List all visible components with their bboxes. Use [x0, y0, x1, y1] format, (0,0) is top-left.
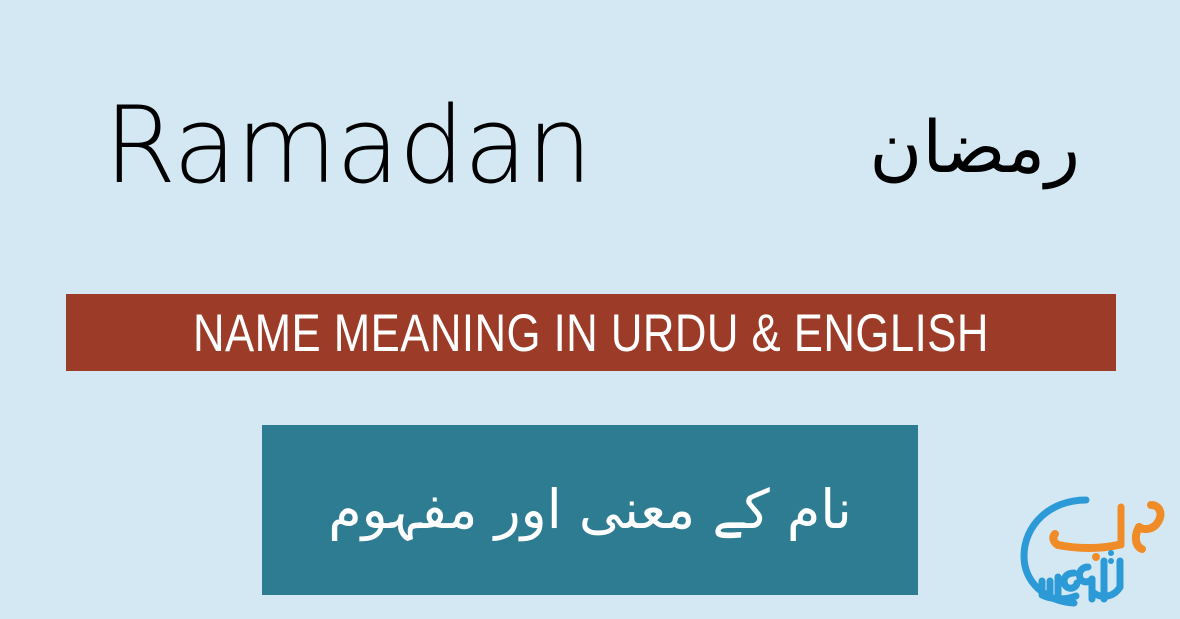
banner-name-meaning: NAME MEANING IN URDU & ENGLISH: [66, 294, 1116, 371]
subtitle-box-urdu: نام کے معنی اور مفہوم: [262, 425, 918, 595]
name-meaning-poster: Ramadan رمضان NAME MEANING IN URDU & ENG…: [0, 0, 1180, 619]
hamariweb-logo[interactable]: [1008, 487, 1168, 607]
banner-label: NAME MEANING IN URDU & ENGLISH: [193, 305, 989, 361]
hamariweb-logo-icon: [1008, 487, 1168, 607]
name-urdu-heading: رمضان: [869, 96, 1080, 198]
subtitle-label-urdu: نام کے معنی اور مفہوم: [328, 462, 852, 558]
page-title: Ramadan: [104, 92, 591, 198]
